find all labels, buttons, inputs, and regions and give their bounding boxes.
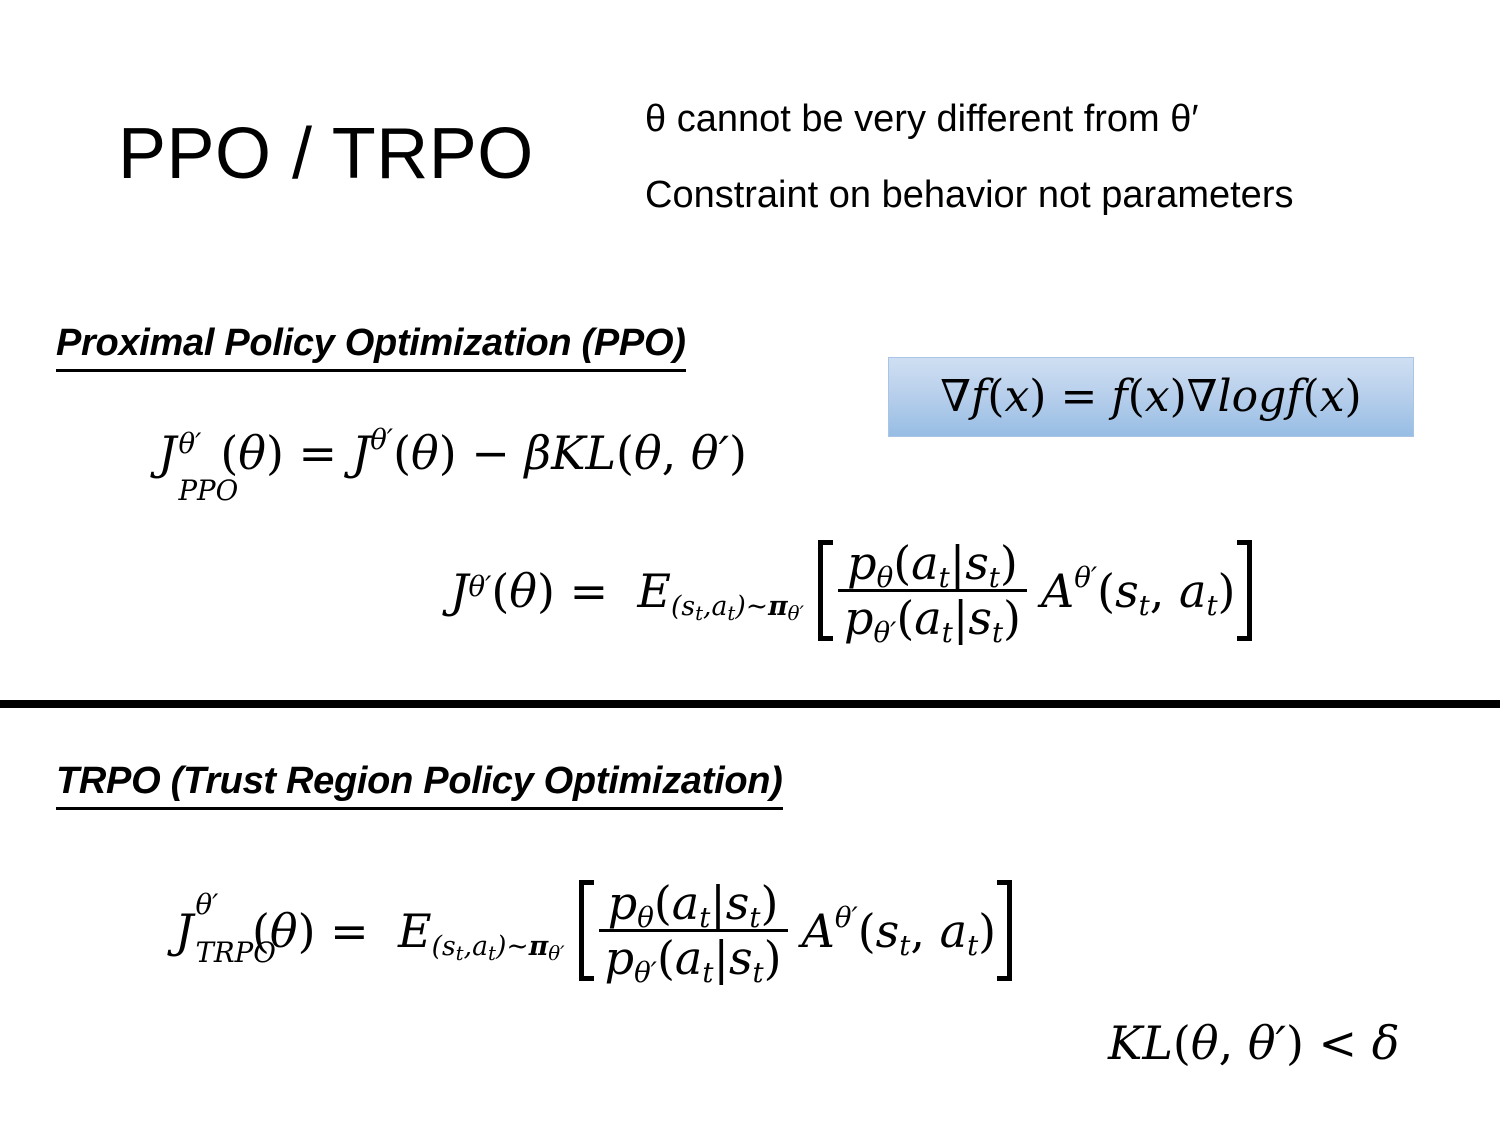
x-symbol-3: x bbox=[1320, 371, 1345, 422]
paren-close: ) bbox=[537, 568, 555, 614]
paren-open: ( bbox=[987, 371, 1004, 422]
theta-symbol: θ bbox=[509, 568, 537, 614]
paren-close-3: ) bbox=[729, 426, 747, 480]
theta-symbol: θ bbox=[238, 426, 266, 480]
importance-ratio-fraction: pθ(at|st) pθ′(at|st) bbox=[599, 880, 788, 981]
paren-close: ) bbox=[1286, 1016, 1304, 1070]
section-divider bbox=[0, 700, 1500, 708]
J-symbol-2: J bbox=[352, 426, 370, 480]
expectation-operator: E(st,at)~πθ′ bbox=[637, 568, 804, 614]
paren-open-3: ( bbox=[616, 426, 634, 480]
beta-symbol: β bbox=[524, 426, 551, 480]
gradient-identity-formula: ∇f(x) = f(x)∇logf(x) bbox=[940, 375, 1361, 419]
expectation-subscript: (st,at)~πθ′ bbox=[671, 591, 804, 622]
trpo-kl-constraint: KL(θ, θ′) < δ bbox=[1108, 1020, 1399, 1066]
comma-symbol: , bbox=[662, 426, 691, 480]
J-symbol: J bbox=[158, 426, 176, 480]
paren-open-2: ( bbox=[393, 426, 411, 480]
importance-ratio-fraction: pθ(at|st) pθ′(at|st) bbox=[838, 540, 1027, 641]
equals-symbol: = bbox=[316, 908, 398, 954]
ppo-section-heading-wrap: Proximal Policy Optimization (PPO) bbox=[56, 322, 686, 372]
KL-symbol: KL bbox=[1108, 1016, 1173, 1070]
nabla-icon-2: ∇ bbox=[1187, 371, 1218, 422]
theta-prime-symbol: θ′ bbox=[1248, 1016, 1286, 1070]
fraction-numerator: pθ(at|st) bbox=[841, 540, 1024, 589]
J-symbol: J bbox=[450, 568, 468, 614]
fraction-numerator: pθ(at|st) bbox=[602, 880, 785, 929]
paren-open: ( bbox=[491, 568, 509, 614]
header-note-theta-constraint: θ cannot be very different from θ′ bbox=[645, 100, 1445, 138]
paren-open: ( bbox=[1173, 1016, 1191, 1070]
fraction-denominator: pθ′(at|st) bbox=[599, 929, 788, 981]
paren-open: ( bbox=[220, 426, 238, 480]
ppo-bracket-group: pθ(at|st) pθ′(at|st) Aθ′(st, at) bbox=[818, 540, 1252, 641]
trpo-objective-equation: Jθ′TRPO (θ) = E(st,at)~πθ′ pθ(at|st) pθ′… bbox=[175, 880, 1012, 981]
trpo-section-heading-wrap: TRPO (Trust Region Policy Optimization) bbox=[56, 760, 783, 810]
page-title: PPO / TRPO bbox=[118, 118, 534, 190]
trpo-section-heading: TRPO (Trust Region Policy Optimization) bbox=[56, 760, 783, 810]
ppo-expectation-equation: Jθ′(θ) = E(st,at)~πθ′ pθ(at|st) pθ′(at|s… bbox=[450, 540, 1252, 641]
paren-open-3: ( bbox=[1303, 371, 1320, 422]
paren-close-2: ) bbox=[439, 426, 457, 480]
left-bracket-icon bbox=[579, 880, 595, 981]
log-symbol: log bbox=[1218, 371, 1287, 422]
left-bracket-icon bbox=[818, 540, 834, 641]
J-symbol: J bbox=[175, 908, 193, 954]
x-symbol-2: x bbox=[1145, 371, 1170, 422]
less-than-symbol: < bbox=[1304, 1016, 1372, 1070]
paren-open-2: ( bbox=[1128, 371, 1145, 422]
header-notes: θ cannot be very different from θ′ Const… bbox=[645, 100, 1445, 214]
x-symbol: x bbox=[1004, 371, 1029, 422]
f-symbol-3: f bbox=[1286, 371, 1302, 422]
advantage-term: Aθ′(st, at) bbox=[1041, 568, 1236, 614]
expectation-operator: E(st,at)~πθ′ bbox=[398, 908, 565, 954]
right-bracket-icon bbox=[1236, 540, 1252, 641]
minus-symbol: − bbox=[457, 426, 525, 480]
delta-symbol: δ bbox=[1372, 1016, 1400, 1070]
theta-symbol-2: θ bbox=[411, 426, 439, 480]
f-symbol: f bbox=[971, 371, 987, 422]
right-bracket-icon bbox=[996, 880, 1012, 981]
ppo-section-heading: Proximal Policy Optimization (PPO) bbox=[56, 322, 686, 372]
fraction-denominator: pθ′(at|st) bbox=[838, 589, 1027, 641]
theta-prime-symbol: θ′ bbox=[691, 426, 729, 480]
header-note-behavior-constraint: Constraint on behavior not parameters bbox=[645, 176, 1445, 214]
advantage-term: Aθ′(st, at) bbox=[802, 908, 997, 954]
equals-symbol: = bbox=[284, 426, 352, 480]
KL-symbol: KL bbox=[551, 426, 616, 480]
equals-symbol: = bbox=[1046, 371, 1111, 422]
theta-symbol: θ bbox=[1191, 1016, 1219, 1070]
equals-symbol: = bbox=[555, 568, 637, 614]
trpo-bracket-group: pθ(at|st) pθ′(at|st) Aθ′(st, at) bbox=[579, 880, 1013, 981]
paren-close: ) bbox=[1029, 371, 1046, 422]
theta-prime-superscript: θ′ bbox=[370, 423, 393, 456]
paren-close: ) bbox=[298, 908, 316, 954]
gradient-identity-highlight-box: ∇f(x) = f(x)∇logf(x) bbox=[888, 357, 1414, 437]
theta-symbol-3: θ bbox=[634, 426, 662, 480]
ppo-objective-equation: Jθ′PPO (θ) = Jθ′(θ) − βKL(θ, θ′) bbox=[158, 430, 747, 476]
expectation-subscript: (st,at)~πθ′ bbox=[432, 931, 565, 962]
paren-close: ) bbox=[266, 426, 284, 480]
paren-close-3: ) bbox=[1345, 371, 1362, 422]
nabla-icon: ∇ bbox=[940, 371, 971, 422]
comma-symbol: , bbox=[1219, 1016, 1248, 1070]
f-symbol-2: f bbox=[1111, 371, 1127, 422]
paren-close-2: ) bbox=[1170, 371, 1187, 422]
